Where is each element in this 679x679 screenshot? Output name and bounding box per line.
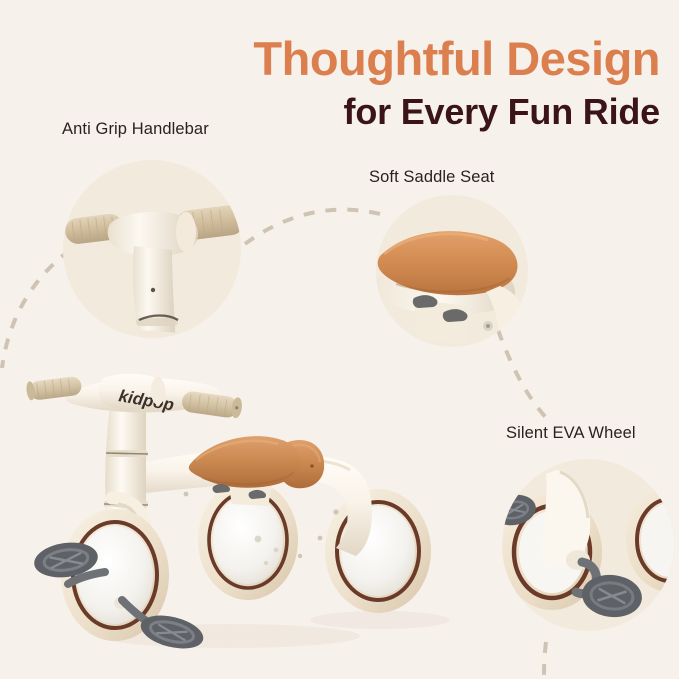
circle-bg-handlebar xyxy=(63,160,241,338)
callout-label-wheel: Silent EVA Wheel xyxy=(506,424,636,443)
frame-rear-arch xyxy=(243,456,372,556)
callout-label-saddle: Soft Saddle Seat xyxy=(369,168,494,187)
connector-handlebar-saddle xyxy=(228,210,380,258)
connector-saddle-wheel xyxy=(498,330,552,424)
saddle-icon xyxy=(370,231,529,344)
wheel-icon xyxy=(490,470,679,650)
frame-bolts xyxy=(184,492,339,559)
brand-logo-text: kidpop xyxy=(117,386,175,414)
infographic-canvas: Thoughtful Design for Every Fun Ride Ant… xyxy=(0,0,679,679)
handlebar: kidpop xyxy=(25,374,243,420)
circle-bg-wheel xyxy=(502,459,674,631)
page-title: Thoughtful Design xyxy=(0,34,660,83)
frame-main xyxy=(96,404,266,584)
connector-handlebar-arc xyxy=(2,250,70,368)
wheel-rear-left xyxy=(198,480,298,600)
wheel-rear-right xyxy=(325,489,431,613)
circle-bg-saddle xyxy=(376,195,528,347)
connector-wheel-tail xyxy=(544,642,546,679)
handlebar-icon xyxy=(64,197,252,360)
saddle-main xyxy=(189,436,324,506)
wheel-front xyxy=(61,509,169,641)
callout-label-handlebar: Anti Grip Handlebar xyxy=(62,120,209,139)
pedal-right xyxy=(122,600,207,654)
pedal-left xyxy=(32,539,105,584)
